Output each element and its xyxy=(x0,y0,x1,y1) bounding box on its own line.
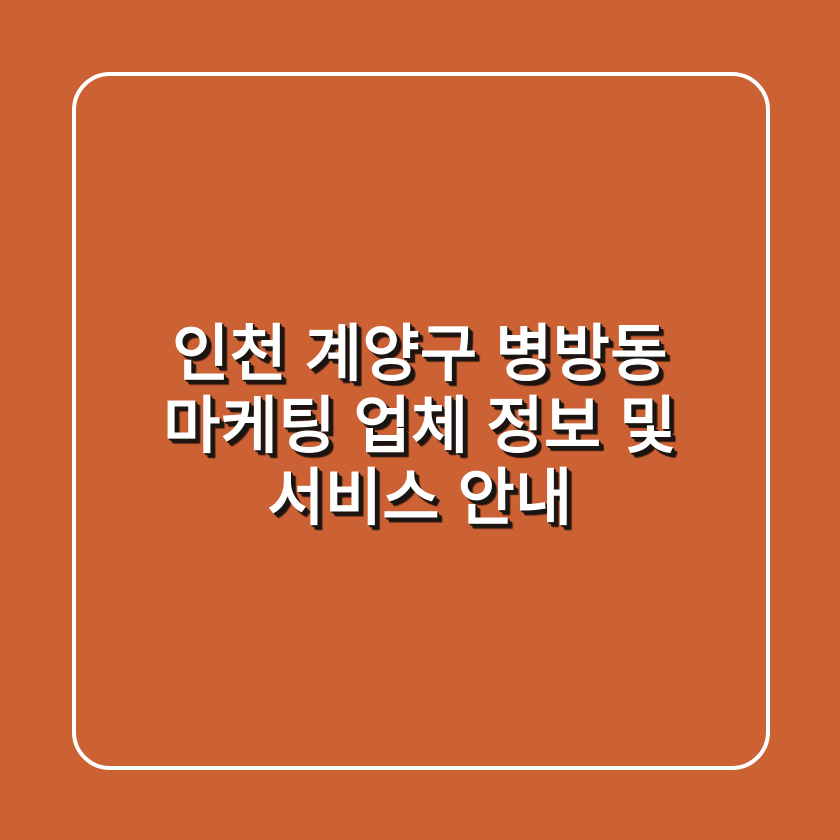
headline-block: 인천 계양구 병방동 마케팅 업체 정보 및 서비스 안내 xyxy=(0,0,840,840)
headline-line-2: 마케팅 업체 정보 및 xyxy=(0,391,840,463)
poster-canvas: 인천 계양구 병방동 마케팅 업체 정보 및 서비스 안내 xyxy=(0,0,840,840)
headline-line-3: 서비스 안내 xyxy=(0,463,840,535)
headline-line-1: 인천 계양구 병방동 xyxy=(0,319,840,391)
